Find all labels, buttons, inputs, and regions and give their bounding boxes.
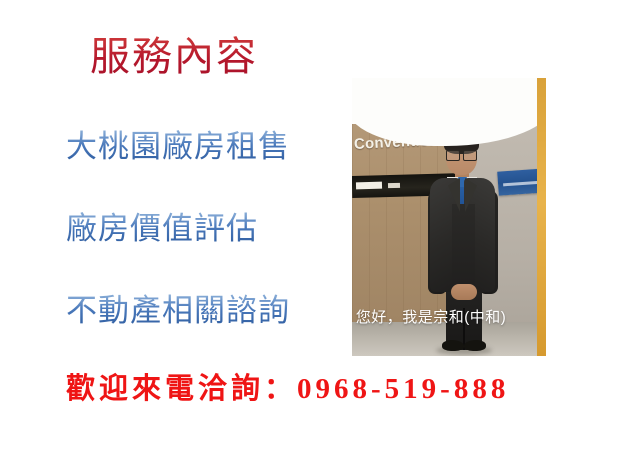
person-clasped-hands [451, 284, 477, 300]
photo-strip-highlight [356, 182, 382, 190]
photo-strip-highlight-secondary [388, 183, 400, 188]
service-item-valuation: 廠房價值評估 [66, 211, 258, 247]
contact-call-to-action: 歡迎來電洽詢：0968-519-888 [66, 372, 509, 406]
person-left-shoe [442, 340, 464, 351]
service-item-factory-rental: 大桃園廠房租售 [66, 129, 290, 165]
eyeglass-lens-right [463, 150, 477, 161]
service-item-consulting: 不動產相關諮詢 [66, 293, 290, 329]
person-eyeglasses [446, 150, 477, 159]
photo-amber-edge-strip [537, 78, 546, 356]
photo-caption: 您好，我是宗和(中和) [324, 308, 538, 328]
eyeglass-lens-left [446, 150, 460, 161]
page-title: 服務內容 [90, 34, 258, 80]
presentation-slide: 服務內容 大桃園廠房租售 廠房價值評估 不動產相關諮詢 歡迎來電洽詢：0968-… [0, 0, 640, 451]
person-right-shoe [464, 340, 486, 351]
person-suit-jacket-front [452, 204, 475, 292]
